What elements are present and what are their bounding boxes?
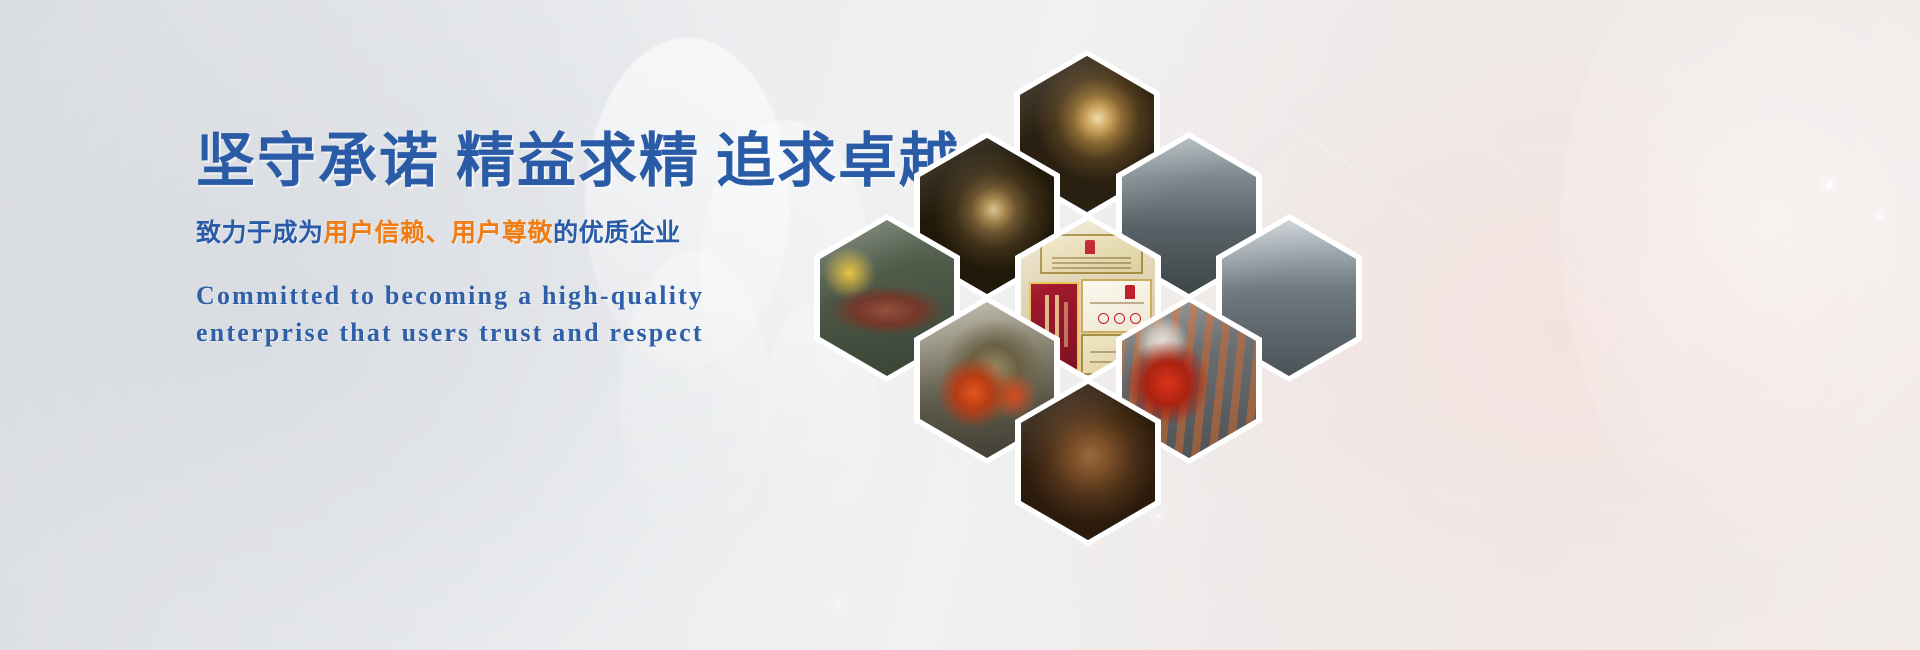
hex-image-frame [1021, 384, 1155, 540]
light-streak-4 [1610, 110, 1749, 331]
sparkle-icon [1877, 214, 1882, 219]
hero-banner: 坚守承诺精益求精追求卓越 致力于成为用户信赖、用户尊敬的优质企业 Committ… [0, 0, 1920, 650]
subtitle-highlight-1: 用户信赖 [324, 219, 426, 247]
headline-part-2: 精益求精 [456, 128, 700, 194]
hexagon-photo-collage [770, 50, 1420, 500]
subtitle-highlight-2: 用户尊敬 [451, 219, 553, 247]
subtitle-separator: 、 [426, 219, 452, 247]
light-streak-3 [1480, 150, 1665, 387]
photo-glare [1021, 384, 1155, 540]
subtitle-lead: 致力于成为 [196, 219, 324, 247]
headline-part-1: 坚守承诺 [196, 128, 440, 194]
sparkle-icon [1156, 513, 1161, 518]
subtitle-tail: 的优质企业 [553, 219, 681, 247]
background-glow [1560, 0, 1920, 580]
sparkle-icon [836, 601, 840, 605]
sparkle-icon [1826, 181, 1833, 188]
